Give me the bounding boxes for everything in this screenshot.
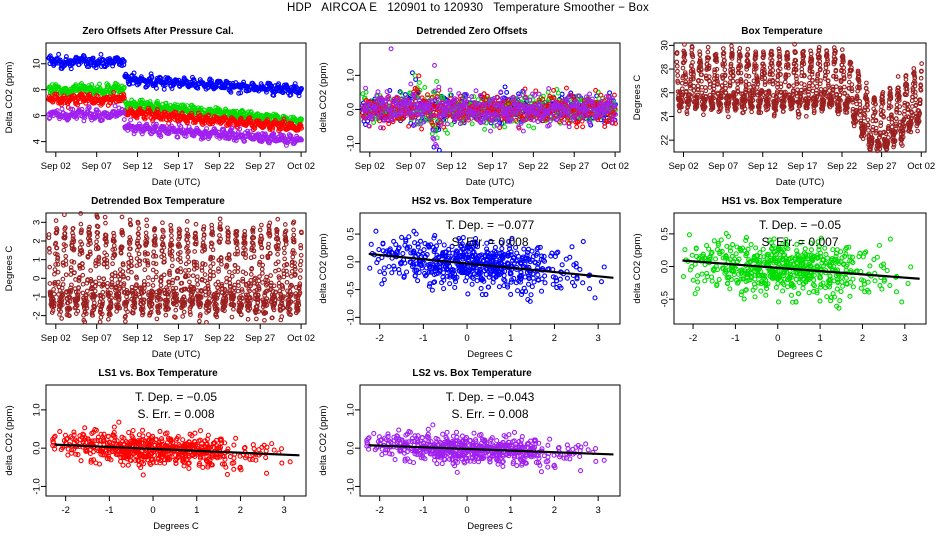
y-tick-label: -1.0 <box>346 135 357 151</box>
x-tick-label: 3 <box>596 333 601 344</box>
y-axis-label: Delta CO2 (ppm) <box>4 62 15 134</box>
y-tick-label: -0.5 <box>346 281 357 297</box>
x-tick-label: 1 <box>508 333 513 344</box>
x-tick-label: Sep 17 <box>163 333 193 344</box>
y-tick-label: 3 <box>32 220 43 225</box>
x-tick-label: 2 <box>552 333 557 344</box>
panel-hs2-vs-box-temperature: HS2 vs. Box Temperature-2-101230.50.0-0.… <box>314 196 630 368</box>
x-tick-label: Sep 22 <box>204 333 234 344</box>
x-tick-label: 1 <box>194 505 199 516</box>
x-tick-label: 1 <box>817 333 822 344</box>
stat-annotation: T. Dep. = −0.043 <box>446 390 535 404</box>
stat-annotation: T. Dep. = −0.05 <box>135 390 217 404</box>
stat-annotation: S. Err. = 0.008 <box>451 235 528 249</box>
x-tick-label: -1 <box>731 333 739 344</box>
x-tick-label: Sep 22 <box>827 161 857 172</box>
x-axis-label: Degrees C <box>777 349 823 360</box>
x-tick-label: -1 <box>419 333 427 344</box>
x-tick-label: Sep 02 <box>355 161 385 172</box>
page-title: HDP AIRCOA E 120901 to 120930 Temperatur… <box>0 2 936 14</box>
x-tick-label: Sep 22 <box>518 161 548 172</box>
y-tick-label: 0.0 <box>32 442 43 455</box>
x-axis-label: Date (UTC) <box>152 349 201 360</box>
x-tick-label: 0 <box>464 505 469 516</box>
x-tick-label: Sep 27 <box>867 161 897 172</box>
y-tick-label: 8 <box>32 87 43 92</box>
stat-annotation: S. Err. = 0.008 <box>451 407 528 421</box>
y-tick-label: 0.5 <box>660 227 671 240</box>
y-tick-label: 0.0 <box>660 260 671 273</box>
x-tick-label: -1 <box>105 505 113 516</box>
x-tick-label: 0 <box>775 333 780 344</box>
y-tick-label: 0.5 <box>346 227 357 240</box>
x-tick-label: 0 <box>464 333 469 344</box>
y-tick-label: 1.0 <box>32 403 43 416</box>
y-tick-label: -1 <box>32 293 43 301</box>
x-tick-label: Oct 02 <box>287 161 315 172</box>
y-tick-label: 0 <box>32 276 43 281</box>
x-tick-label: -2 <box>375 505 383 516</box>
x-axis-label: Date (UTC) <box>776 177 825 188</box>
x-tick-label: Sep 07 <box>82 333 112 344</box>
y-axis-label: delta CO2 (ppm) <box>632 233 643 303</box>
x-tick-label: -1 <box>419 505 427 516</box>
y-tick-label: 2 <box>32 238 43 243</box>
y-tick-label: 4 <box>32 139 43 144</box>
chart-title: LS2 vs. Box Temperature <box>314 368 630 379</box>
y-tick-label: 6 <box>32 113 43 118</box>
chart-title: Box Temperature <box>628 26 936 37</box>
y-tick-label: -2 <box>32 311 43 319</box>
chart-plot-area: -2-101231.00.0-1.0Degrees Cdelta CO2 (pp… <box>0 368 316 540</box>
x-tick-label: Sep 17 <box>477 161 507 172</box>
chart-title: Detrended Zero Offsets <box>314 26 630 37</box>
stat-annotation: S. Err. = 0.008 <box>137 407 214 421</box>
x-tick-label: Sep 12 <box>123 161 153 172</box>
y-tick-label: -0.5 <box>660 291 671 307</box>
x-tick-label: 2 <box>552 505 557 516</box>
chart-title: LS1 vs. Box Temperature <box>0 368 316 379</box>
chart-plot-area: Sep 02Sep 07Sep 12Sep 17Sep 22Sep 27Oct … <box>0 26 316 196</box>
x-tick-label: Sep 27 <box>245 161 275 172</box>
y-tick-label: 30 <box>660 40 671 51</box>
y-tick-label: -1.0 <box>346 478 357 494</box>
chart-plot-area: -2-101230.50.0-0.5Degrees Cdelta CO2 (pp… <box>628 196 936 368</box>
y-axis-label: delta CO2 (ppm) <box>318 405 329 475</box>
x-tick-label: Oct 02 <box>287 333 315 344</box>
chart-plot-area: -2-101230.50.0-0.5-1.0Degrees Cdelta CO2… <box>314 196 630 368</box>
stat-annotation: S. Err. = 0.007 <box>761 235 838 249</box>
x-axis-label: Degrees C <box>153 521 199 532</box>
x-tick-label: Sep 27 <box>559 161 589 172</box>
x-tick-label: 3 <box>282 505 287 516</box>
panel-detrended-box-temperature: Detrended Box TemperatureSep 02Sep 07Sep… <box>0 196 316 368</box>
x-axis-label: Degrees C <box>467 521 513 532</box>
y-tick-label: 28 <box>660 64 671 75</box>
x-tick-label: Sep 17 <box>787 161 817 172</box>
y-axis-label: Degrees C <box>4 246 15 292</box>
x-tick-label: 3 <box>596 505 601 516</box>
x-tick-label: Sep 22 <box>204 161 234 172</box>
x-tick-label: 3 <box>902 333 907 344</box>
panel-zero-offsets-after-pressure-cal: Zero Offsets After Pressure Cal.Sep 02Se… <box>0 26 316 196</box>
x-tick-label: Sep 07 <box>708 161 738 172</box>
x-tick-label: Sep 12 <box>123 333 153 344</box>
x-tick-label: Sep 07 <box>82 161 112 172</box>
y-tick-label: 1.0 <box>346 403 357 416</box>
x-axis-label: Degrees C <box>467 349 513 360</box>
chart-plot-area: Sep 02Sep 07Sep 12Sep 17Sep 22Sep 27Oct … <box>0 196 316 368</box>
stat-annotation: T. Dep. = −0.05 <box>759 218 841 232</box>
x-axis-label: Date (UTC) <box>152 177 201 188</box>
x-tick-label: Sep 02 <box>668 161 698 172</box>
x-axis-label: Date (UTC) <box>466 177 515 188</box>
y-tick-label: 0.0 <box>346 442 357 455</box>
x-tick-label: Sep 02 <box>41 161 71 172</box>
x-tick-label: 0 <box>150 505 155 516</box>
x-tick-label: Sep 27 <box>245 333 275 344</box>
chart-title: HS1 vs. Box Temperature <box>628 196 936 207</box>
y-tick-label: 0.0 <box>346 255 357 268</box>
y-tick-label: 26 <box>660 87 671 98</box>
y-tick-label: 24 <box>660 111 671 122</box>
x-tick-label: 2 <box>238 505 243 516</box>
chart-plot-area: Sep 02Sep 07Sep 12Sep 17Sep 22Sep 27Oct … <box>628 26 936 196</box>
y-tick-label: 22 <box>660 135 671 146</box>
panel-box-temperature: Box TemperatureSep 02Sep 07Sep 12Sep 17S… <box>628 26 936 196</box>
panel-hs1-vs-box-temperature: HS1 vs. Box Temperature-2-101230.50.0-0.… <box>628 196 936 368</box>
y-axis-label: Degrees C <box>632 75 643 121</box>
y-tick-label: -1.0 <box>32 478 43 494</box>
x-tick-label: -2 <box>689 333 697 344</box>
x-tick-label: -2 <box>61 505 69 516</box>
chart-title: Detrended Box Temperature <box>0 196 316 207</box>
x-tick-label: Oct 02 <box>907 161 935 172</box>
chart-plot-area: Sep 02Sep 07Sep 12Sep 17Sep 22Sep 27Oct … <box>314 26 630 196</box>
x-tick-label: 2 <box>860 333 865 344</box>
x-tick-label: Sep 02 <box>41 333 71 344</box>
chart-plot-area: -2-101231.00.0-1.0Degrees Cdelta CO2 (pp… <box>314 368 630 540</box>
y-axis-label: delta CO2 (ppm) <box>4 405 15 475</box>
y-axis-label: delta CO2 (ppm) <box>318 62 329 132</box>
chart-title: HS2 vs. Box Temperature <box>314 196 630 207</box>
y-tick-label: -1.0 <box>346 309 357 325</box>
x-tick-label: -2 <box>375 333 383 344</box>
panel-ls1-vs-box-temperature: LS1 vs. Box Temperature-2-101231.00.0-1.… <box>0 368 316 540</box>
y-axis-label: delta CO2 (ppm) <box>318 233 329 303</box>
x-tick-label: 1 <box>508 505 513 516</box>
panel-detrended-zero-offsets: Detrended Zero OffsetsSep 02Sep 07Sep 12… <box>314 26 630 196</box>
x-tick-label: Oct 02 <box>601 161 629 172</box>
y-tick-label: 1 <box>32 257 43 262</box>
x-tick-label: Sep 12 <box>748 161 778 172</box>
panel-ls2-vs-box-temperature: LS2 vs. Box Temperature-2-101231.00.0-1.… <box>314 368 630 540</box>
y-tick-label: 10 <box>32 58 43 69</box>
stat-annotation: T. Dep. = −0.077 <box>446 218 535 232</box>
x-tick-label: Sep 07 <box>396 161 426 172</box>
y-tick-label: 1.0 <box>346 69 357 82</box>
chart-title: Zero Offsets After Pressure Cal. <box>0 26 316 37</box>
y-tick-label: 0.0 <box>346 103 357 116</box>
x-tick-label: Sep 12 <box>437 161 467 172</box>
x-tick-label: Sep 17 <box>163 161 193 172</box>
